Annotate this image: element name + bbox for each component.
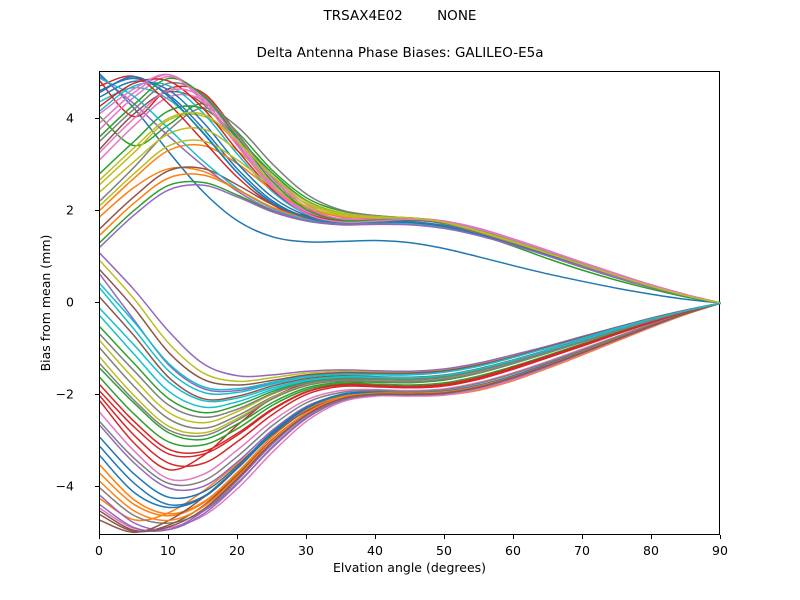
plot-axes <box>99 71 720 535</box>
y-tick-label: −2 <box>56 387 74 402</box>
line-series <box>100 185 721 303</box>
line-series <box>100 83 721 304</box>
line-series <box>100 92 721 304</box>
x-tick-label: 80 <box>643 543 659 558</box>
line-series <box>100 75 721 303</box>
line-series <box>100 106 721 303</box>
line-series <box>100 76 721 303</box>
x-tick-label: 10 <box>160 543 176 558</box>
line-series <box>100 108 721 303</box>
x-tick-mark <box>582 535 583 539</box>
line-series <box>100 83 721 304</box>
x-tick-label: 20 <box>229 543 245 558</box>
line-series <box>100 74 721 303</box>
y-tick-mark <box>95 210 99 211</box>
x-tick-mark <box>651 535 652 539</box>
x-tick-mark <box>375 535 376 539</box>
line-series <box>100 112 721 303</box>
line-series <box>100 88 721 303</box>
x-tick-mark <box>237 535 238 539</box>
line-series <box>100 303 721 433</box>
line-series <box>100 104 721 303</box>
x-tick-label: 40 <box>367 543 383 558</box>
x-tick-mark <box>720 535 721 539</box>
y-tick-label: −4 <box>56 479 74 494</box>
x-tick-label: 90 <box>712 543 728 558</box>
x-tick-mark <box>168 535 169 539</box>
x-tick-label: 70 <box>574 543 590 558</box>
y-axis-label: Bias from mean (mm) <box>38 235 53 372</box>
figure-suptitle: TRSAX4E02 NONE <box>0 8 800 24</box>
x-tick-label: 0 <box>95 543 103 558</box>
line-series <box>100 74 721 303</box>
x-tick-label: 30 <box>298 543 314 558</box>
y-tick-mark <box>95 118 99 119</box>
x-tick-label: 50 <box>436 543 452 558</box>
line-series <box>100 303 721 523</box>
x-tick-label: 60 <box>505 543 521 558</box>
x-tick-mark <box>513 535 514 539</box>
line-series-group <box>100 72 721 536</box>
y-tick-label: 2 <box>66 203 74 218</box>
y-tick-label: 4 <box>66 110 74 125</box>
line-series <box>100 94 721 303</box>
x-axis-label: Elvation angle (degrees) <box>99 560 720 575</box>
chart-title: Delta Antenna Phase Biases: GALILEO-E5a <box>0 45 800 61</box>
line-series <box>100 303 721 417</box>
line-series <box>100 253 721 376</box>
line-series <box>100 114 721 303</box>
x-tick-mark <box>306 535 307 539</box>
y-tick-mark <box>95 394 99 395</box>
y-tick-label: 0 <box>66 295 74 310</box>
y-tick-mark <box>95 302 99 303</box>
x-tick-mark <box>444 535 445 539</box>
y-tick-mark <box>95 486 99 487</box>
figure-canvas: TRSAX4E02 NONE Delta Antenna Phase Biase… <box>0 0 800 600</box>
x-tick-mark <box>99 535 100 539</box>
